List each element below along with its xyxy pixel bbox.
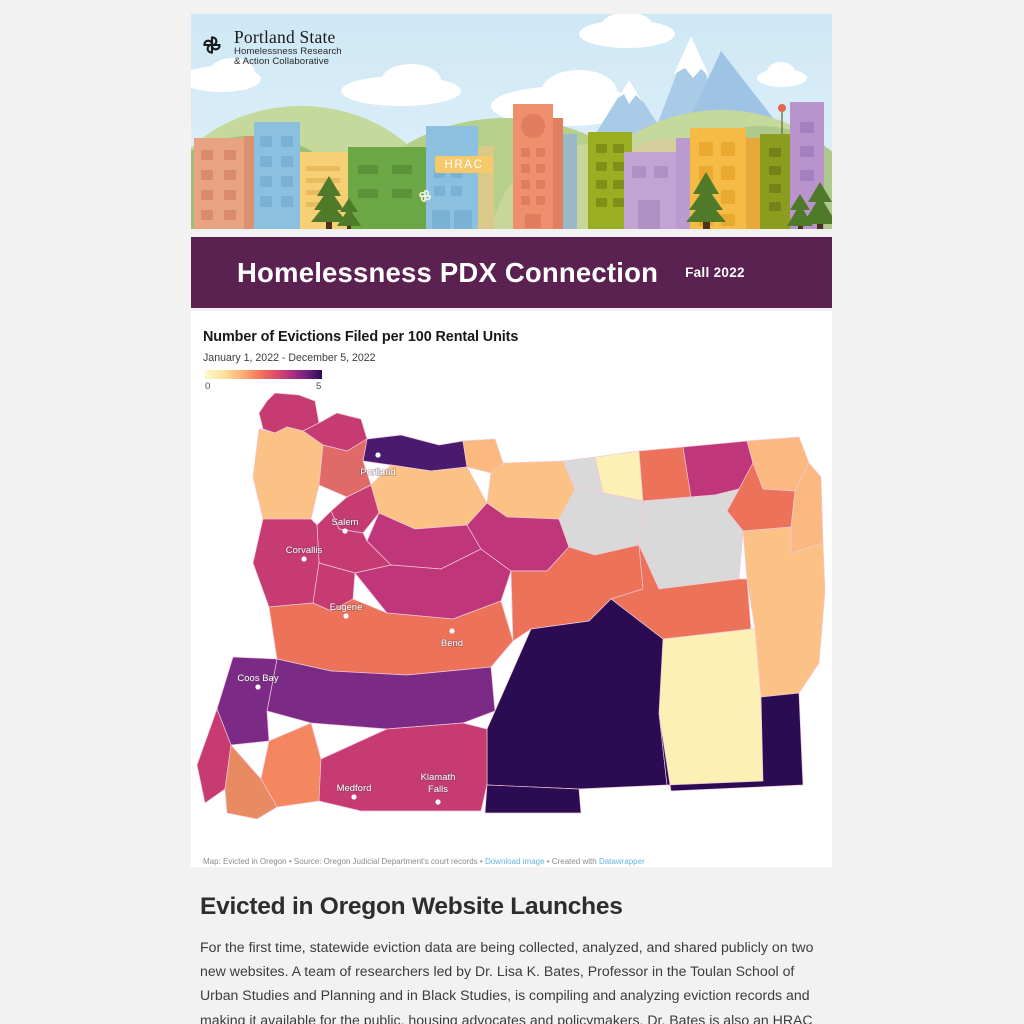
newsletter-title: Homelessness PDX Connection [237,257,658,289]
article-body-text: For the first time, statewide eviction d… [200,935,822,1024]
footer-separator-1: • [287,857,294,866]
city-dot-klamath-falls [435,799,440,804]
chart-footer-credits: Map: Evicted in Oregon • Source: Oregon … [203,857,645,866]
eviction-map-chart-card: Number of Evictions Filed per 100 Rental… [191,311,832,867]
newsletter-title-bar: Homelessness PDX Connection Fall 2022 [191,237,832,308]
city-label-klamath-falls-line2: Falls [428,784,448,795]
county-grant[interactable] [639,489,743,589]
building-shape [254,122,300,229]
psu-pinwheel-logo-icon [197,30,227,60]
county-klamath-south[interactable] [485,785,581,813]
oregon-county-choropleth-map[interactable]: Portland Salem Corvallis Eugene Bend Coo… [191,393,832,853]
hrac-building-sign: HRAC [435,156,493,173]
chart-source-credit: Source: Oregon Judicial Department's cou… [294,857,478,866]
city-dot-coos-bay [255,684,260,689]
hero-banner: HRAC [191,14,832,229]
building-shape [513,104,553,229]
legend-max-label: 5 [316,381,321,392]
city-label-salem: Salem [332,517,359,528]
building-shape [563,134,577,229]
county-clatsop[interactable] [259,393,319,433]
county-harney[interactable] [659,629,763,785]
antenna-icon [775,104,789,136]
article-heading: Evicted in Oregon Website Launches [200,893,832,921]
county-tillamook[interactable] [253,427,323,519]
hrac-unit-line-2: & Action Collaborative [234,57,342,67]
city-label-klamath-falls-line1: Klamath [421,772,456,783]
chart-title: Number of Evictions Filed per 100 Rental… [203,329,518,345]
city-dot-corvallis [301,556,306,561]
building-shape [244,136,254,229]
building-shape [194,138,246,229]
newsletter-issue-date: Fall 2022 [685,265,745,280]
county-lincoln[interactable] [253,519,319,607]
building-shape [760,134,790,229]
city-label-coos-bay: Coos Bay [237,673,278,684]
city-dot-bend [449,628,454,633]
footer-separator-3: • [545,857,552,866]
psu-org-name: Portland State [234,28,342,47]
legend-min-label: 0 [205,381,210,392]
county-wasco[interactable] [487,461,575,519]
city-label-bend: Bend [441,638,463,649]
hrac-pinwheel-mark-icon [415,186,435,206]
footer-separator-2: • [478,857,485,866]
city-label-corvallis: Corvallis [286,545,323,556]
building-shape [426,126,478,229]
article-section: Evicted in Oregon Website Launches For t… [191,893,832,1024]
building-shape [746,138,760,229]
pine-tree-icon [337,196,361,229]
datawrapper-link[interactable]: Datawrapper [599,857,645,866]
download-image-link[interactable]: Download image [485,857,545,866]
hrac-sign-label: HRAC [445,159,484,171]
color-scale-legend [205,370,322,379]
city-dot-salem [342,528,347,533]
psu-hrac-logo-lockup: Portland State Homelessness Research & A… [197,28,342,68]
chart-map-credit: Map: Evicted in Oregon [203,857,287,866]
created-with-prefix: Created with [552,857,599,866]
logo-text-block: Portland State Homelessness Research & A… [234,28,342,68]
newsletter-page: HRAC [0,0,1024,1024]
city-dot-portland [375,452,380,457]
city-label-medford: Medford [337,783,372,794]
building-shape [553,118,563,229]
pine-tree-icon [686,170,726,229]
county-morrow[interactable] [639,447,691,501]
building-shape [624,152,676,229]
city-label-eugene: Eugene [330,602,363,613]
pine-tree-icon [803,180,832,229]
county-wheeler[interactable] [559,489,643,555]
cloud-shape [381,64,441,98]
county-jackson[interactable] [319,723,487,811]
chart-subtitle: January 1, 2022 - December 5, 2022 [203,352,376,364]
city-label-portland: Portland [360,467,395,478]
city-dot-eugene [343,613,348,618]
city-dot-medford [351,794,356,799]
